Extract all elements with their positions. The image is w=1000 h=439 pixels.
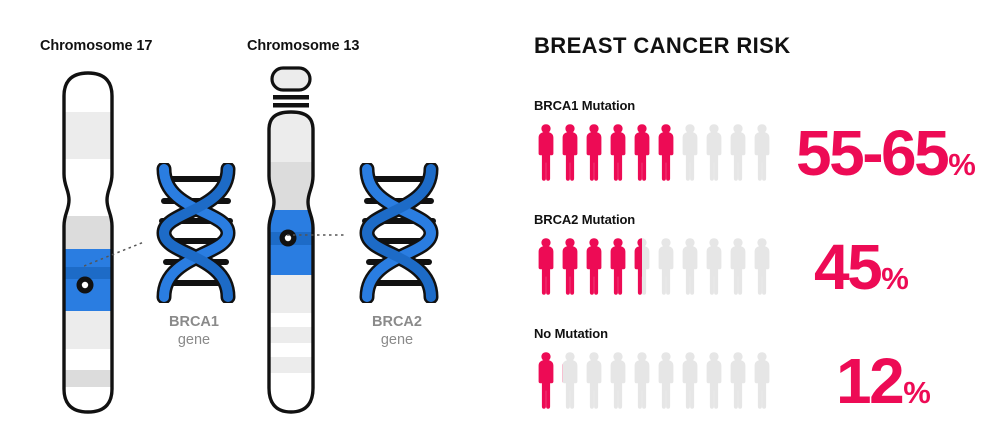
chromosome-panel: Chromosome 17 Chromosome 13 [0, 0, 500, 439]
person-icon [750, 350, 774, 412]
person-icon [558, 122, 582, 184]
pictogram-brca1 [534, 122, 774, 184]
brca2-gene-name: BRCA2 [337, 313, 457, 331]
chromosome-17-label: Chromosome 17 [40, 38, 152, 54]
person-icon [606, 350, 630, 412]
person-icon [702, 122, 726, 184]
risk-row-label: No Mutation [534, 326, 1000, 341]
person-icon [630, 350, 654, 412]
person-icon [702, 350, 726, 412]
dna-helix-icon-brca1 [142, 163, 250, 303]
satellite-stalk-line [273, 103, 309, 108]
person-icon [750, 122, 774, 184]
risk-row-brca1: BRCA1 Mutation 55-65 % [534, 98, 1000, 185]
person-icon [558, 236, 582, 298]
locus-connector-line-2 [287, 228, 349, 242]
dna-helix-icon-brca2 [345, 163, 453, 303]
person-icon [606, 236, 630, 298]
person-icon [534, 350, 558, 412]
person-icon [630, 122, 654, 184]
person-icon [630, 236, 654, 298]
person-icon [654, 236, 678, 298]
person-icon [726, 122, 750, 184]
risk-number: 12 [836, 349, 902, 413]
chromosome-13-label: Chromosome 13 [247, 38, 359, 54]
person-icon [678, 122, 702, 184]
person-icon [654, 122, 678, 184]
person-icon [582, 350, 606, 412]
risk-value-brca2: 45 % [814, 235, 908, 299]
person-icon [702, 236, 726, 298]
person-icon [606, 122, 630, 184]
page-title: BREAST CANCER RISK [534, 33, 791, 59]
risk-value-brca1: 55-65 % [796, 121, 975, 185]
risk-row-label: BRCA2 Mutation [534, 212, 1000, 227]
person-icon [726, 236, 750, 298]
gene-locus-dot-center [82, 282, 88, 288]
person-icon [678, 350, 702, 412]
person-icon [534, 122, 558, 184]
person-icon [654, 350, 678, 412]
pictogram-brca2 [534, 236, 774, 298]
risk-percent-sign: % [881, 261, 908, 297]
person-icon [534, 236, 558, 298]
pictogram-no-mutation [534, 350, 774, 412]
risk-row-label: BRCA1 Mutation [534, 98, 1000, 113]
person-icon [582, 122, 606, 184]
risk-panel: BREAST CANCER RISK BRCA1 Mutation 55-65 … [500, 0, 1000, 439]
person-icon [726, 350, 750, 412]
satellite-stalk-line [273, 95, 309, 100]
risk-percent-sign: % [948, 147, 975, 183]
brca2-gene-word: gene [337, 331, 457, 349]
chromosome-satellite-cap [272, 68, 310, 90]
person-icon [582, 236, 606, 298]
brca1-gene-label: BRCA1 gene [134, 313, 254, 349]
risk-number: 55-65 [796, 121, 947, 185]
person-icon [678, 236, 702, 298]
risk-value-no-mutation: 12 % [836, 349, 930, 413]
risk-number: 45 [814, 235, 880, 299]
risk-percent-sign: % [903, 375, 930, 411]
person-icon [750, 236, 774, 298]
locus-connector-line-1 [84, 240, 146, 268]
brca1-gene-name: BRCA1 [134, 313, 254, 331]
risk-row-brca2: BRCA2 Mutation 45 % [534, 212, 1000, 299]
risk-row-no-mutation: No Mutation 12 % [534, 326, 1000, 413]
brca1-gene-word: gene [134, 331, 254, 349]
brca2-gene-label: BRCA2 gene [337, 313, 457, 349]
person-icon [558, 350, 582, 412]
